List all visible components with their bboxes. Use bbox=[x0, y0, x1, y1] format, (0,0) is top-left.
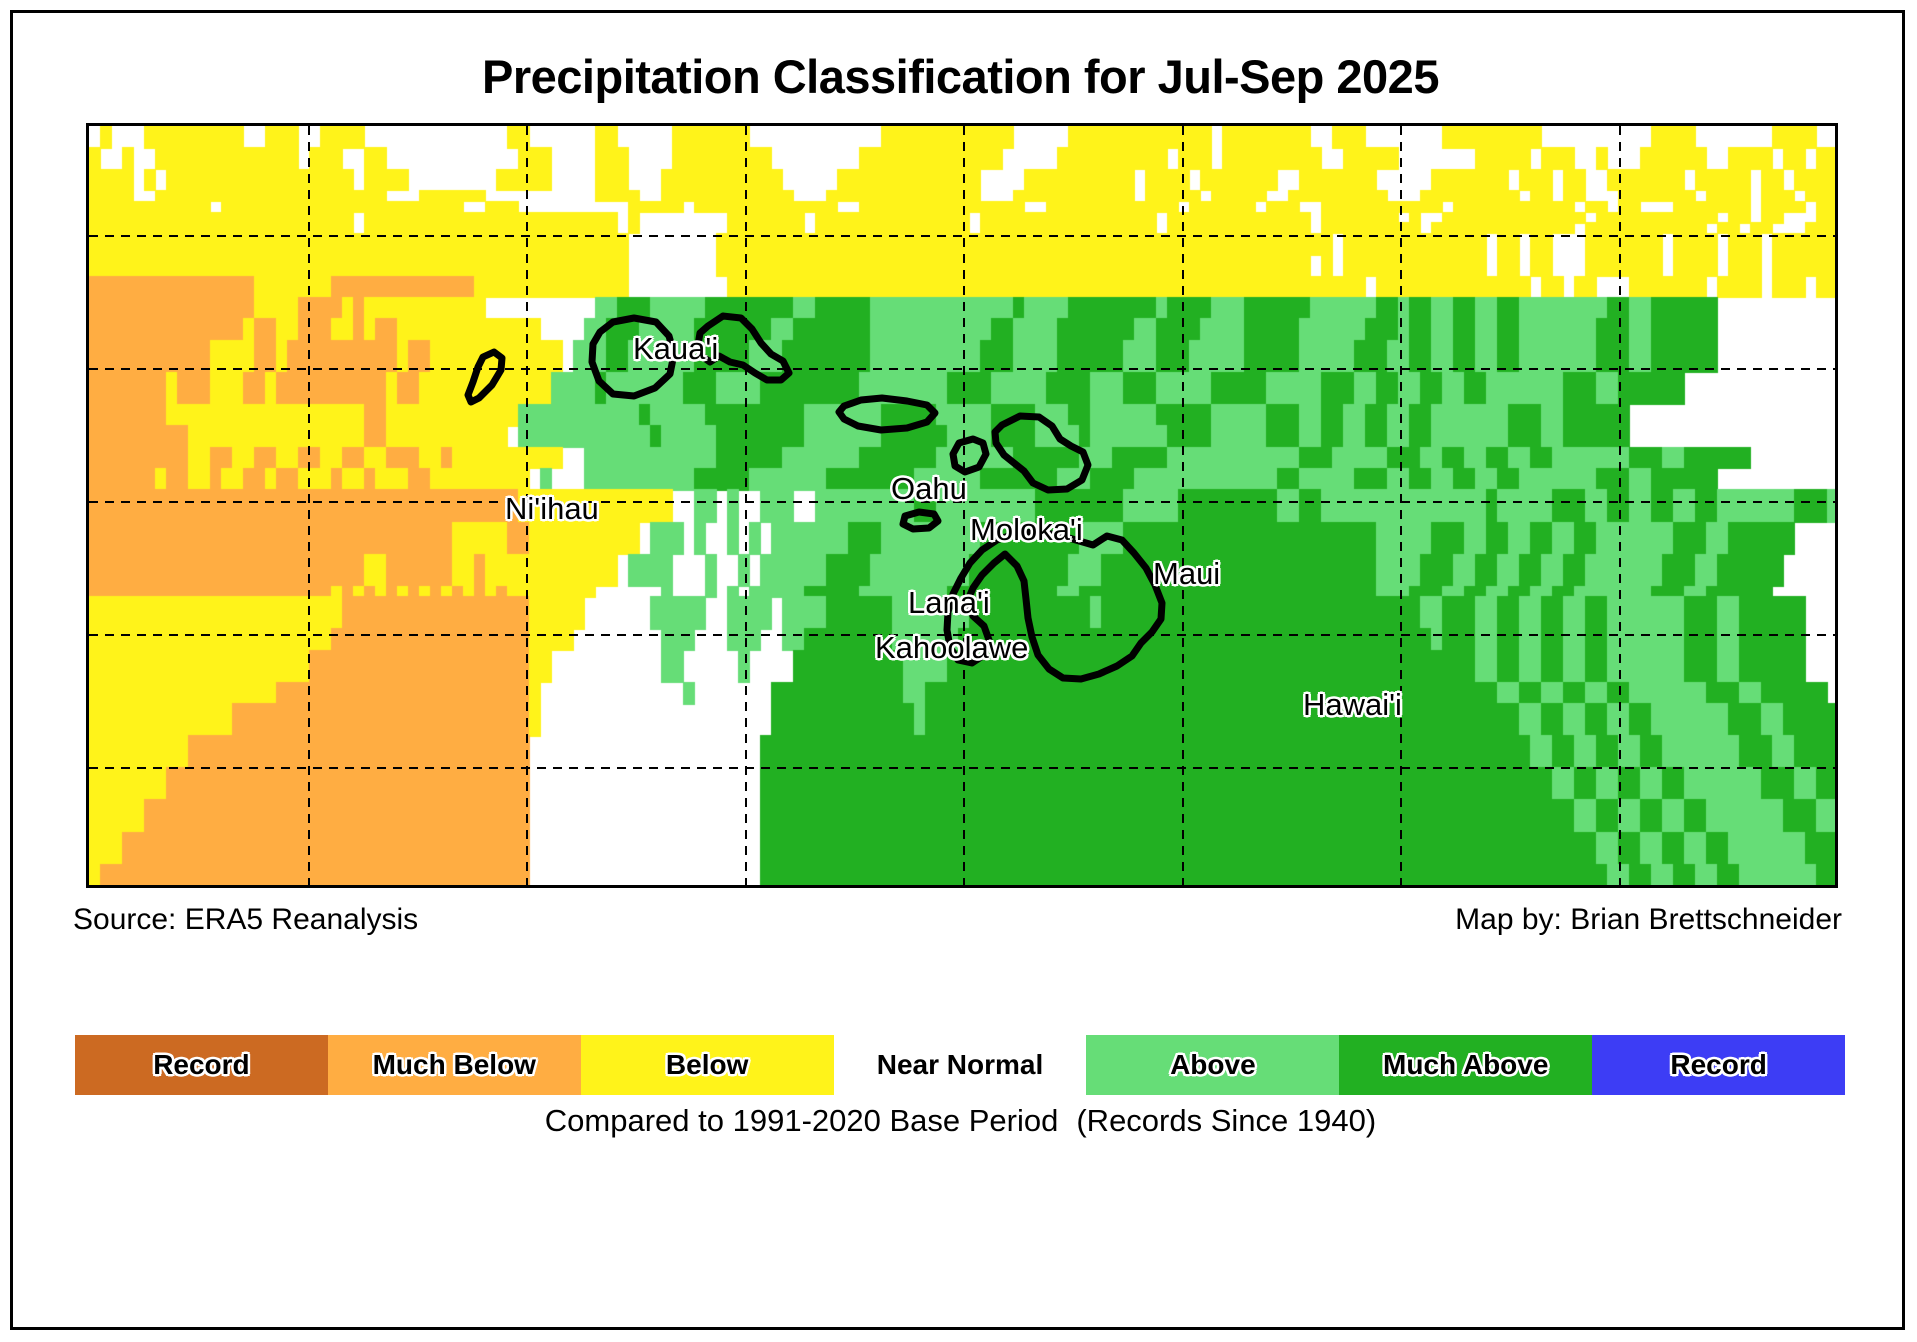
legend-label: Much Below bbox=[373, 1049, 536, 1081]
legend-label: Record bbox=[153, 1049, 249, 1081]
legend-caption: Compared to 1991-2020 Base Period(Record… bbox=[13, 1103, 1908, 1139]
island-label-molokai: Moloka'i bbox=[970, 512, 1083, 548]
caption-base-period: Compared to 1991-2020 Base Period bbox=[545, 1103, 1059, 1139]
legend-label: Record bbox=[1670, 1049, 1766, 1081]
caption-records-note: (Records Since 1940) bbox=[1076, 1103, 1376, 1139]
credit-note: Map by: Brian Brettschneider bbox=[1455, 903, 1842, 937]
page-title: Precipitation Classification for Jul-Sep… bbox=[13, 49, 1908, 104]
legend-swatch-much-below-1[interactable]: Much Below bbox=[328, 1035, 581, 1095]
legend-swatch-above-4[interactable]: Above bbox=[1086, 1035, 1339, 1095]
map-panel[interactable]: Kaua'iNi'ihauOahuMoloka'iMauiLana'iKahoo… bbox=[86, 123, 1838, 888]
legend-label: Much Above bbox=[1383, 1049, 1548, 1081]
source-note: Source: ERA5 Reanalysis bbox=[73, 903, 418, 937]
legend-swatch-much-above-5[interactable]: Much Above bbox=[1339, 1035, 1592, 1095]
poster-frame: Precipitation Classification for Jul-Sep… bbox=[10, 10, 1905, 1330]
island-label-maui: Maui bbox=[1153, 556, 1220, 592]
island-label-niihau: Ni'ihau bbox=[505, 491, 599, 527]
legend-swatch-below-2[interactable]: Below bbox=[581, 1035, 834, 1095]
island-label-oahu: Oahu bbox=[891, 471, 967, 507]
legend-colorbar[interactable]: RecordMuch BelowBelowNear NormalAboveMuc… bbox=[75, 1035, 1845, 1095]
legend-swatch-near-normal-3[interactable]: Near Normal bbox=[834, 1035, 1087, 1095]
legend-swatch-record-0[interactable]: Record bbox=[75, 1035, 328, 1095]
island-label-kahoolawe: Kahoolawe bbox=[875, 630, 1028, 666]
legend-label: Near Normal bbox=[877, 1049, 1044, 1081]
island-label-hawaii: Hawai'i bbox=[1303, 687, 1402, 723]
legend-label: Above bbox=[1170, 1049, 1256, 1081]
legend-swatch-record-6[interactable]: Record bbox=[1592, 1035, 1845, 1095]
island-label-kauai: Kaua'i bbox=[633, 331, 718, 367]
legend-label: Below bbox=[666, 1049, 748, 1081]
island-label-lanai: Lana'i bbox=[908, 585, 990, 621]
